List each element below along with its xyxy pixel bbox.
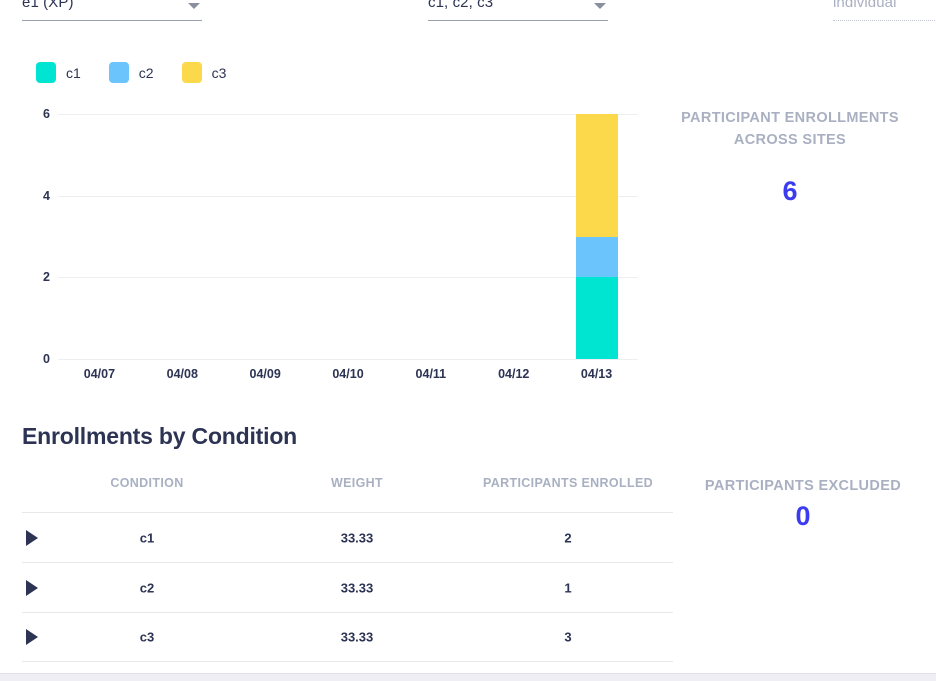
chart-legend: c1 c2 c3 <box>36 62 226 83</box>
expand-triangle-icon[interactable] <box>26 530 38 546</box>
table-body: c133.332c233.331c333.333 <box>22 512 673 662</box>
chart-y-tick-label: 2 <box>22 270 50 284</box>
chart-y-tick-label: 0 <box>22 352 50 366</box>
chart-gridline <box>58 359 638 360</box>
chart-y-tick-label: 4 <box>22 189 50 203</box>
legend-label: c2 <box>139 65 154 81</box>
filter-unit[interactable]: individual <box>833 0 936 24</box>
bottom-divider <box>0 673 936 681</box>
chart-x-axis: 04/0704/0804/0904/1004/1104/1204/13 <box>58 367 638 387</box>
bar-segment-c1[interactable] <box>576 277 618 359</box>
table-cell-enrolled: 2 <box>564 530 571 545</box>
table-column-header: CONDITION <box>110 476 183 490</box>
table-row[interactable]: c233.331 <box>22 562 673 612</box>
filter-experiment[interactable]: e1 (XP) <box>22 0 202 24</box>
legend-label: c1 <box>66 65 81 81</box>
chart-x-tick-label: 04/09 <box>250 367 281 381</box>
table-cell-weight: 33.33 <box>341 580 374 595</box>
table-cell-condition: c1 <box>140 530 154 545</box>
filter-bar: e1 (XP) c1, c2, c3 individual Last 7 Day… <box>0 0 936 24</box>
chart-x-tick-label: 04/07 <box>84 367 115 381</box>
expand-triangle-icon[interactable] <box>26 580 38 596</box>
legend-swatch-icon <box>36 62 56 83</box>
chart-gridline <box>58 196 638 197</box>
filter-underline <box>22 20 202 21</box>
filter-underline-disabled <box>833 20 936 21</box>
chevron-down-icon <box>594 3 606 9</box>
chart-x-tick-label: 04/11 <box>416 367 447 381</box>
table-column-header: PARTICIPANTS ENROLLED <box>483 476 653 490</box>
filter-conditions[interactable]: c1, c2, c3 <box>428 0 608 24</box>
dashboard-root: e1 (XP) c1, c2, c3 individual Last 7 Day… <box>0 0 936 681</box>
chart-x-tick-label: 04/12 <box>498 367 529 381</box>
bar-segment-c3[interactable] <box>576 114 618 237</box>
table-column-header: WEIGHT <box>331 476 383 490</box>
chart-plot-area: 0246 <box>58 114 638 359</box>
table-cell-condition: c3 <box>140 630 154 645</box>
legend-swatch-icon <box>109 62 129 83</box>
chevron-down-icon <box>188 3 200 9</box>
enrollments-stacked-bar-chart: 0246 04/0704/0804/0904/1004/1104/1204/13 <box>22 105 642 395</box>
filter-conditions-value: c1, c2, c3 <box>428 0 493 11</box>
table-cell-condition: c2 <box>140 580 154 595</box>
chart-x-tick-label: 04/08 <box>167 367 198 381</box>
stat-excluded-title: PARTICIPANTS EXCLUDED <box>673 475 933 497</box>
chart-gridline <box>58 277 638 278</box>
legend-label: c3 <box>212 65 227 81</box>
legend-item-c3[interactable]: c3 <box>182 62 227 83</box>
table-row[interactable]: c333.333 <box>22 612 673 662</box>
legend-item-c2[interactable]: c2 <box>109 62 154 83</box>
chart-x-tick-label: 04/10 <box>332 367 363 381</box>
filter-underline <box>428 20 608 21</box>
stat-enrollments-value: 6 <box>660 176 920 207</box>
chart-y-tick-label: 6 <box>22 107 50 121</box>
chart-bar-04-13[interactable] <box>576 114 618 359</box>
table-cell-weight: 33.33 <box>341 530 374 545</box>
stat-enrollments-title: PARTICIPANT ENROLLMENTS ACROSS SITES <box>660 107 920 151</box>
enrollments-table: CONDITIONWEIGHTPARTICIPANTS ENROLLED c13… <box>22 470 673 662</box>
filter-unit-value: individual <box>833 0 897 11</box>
table-cell-enrolled: 1 <box>564 580 571 595</box>
page-title: Enrollments by Condition <box>22 423 297 450</box>
table-header-row: CONDITIONWEIGHTPARTICIPANTS ENROLLED <box>22 470 673 512</box>
table-cell-enrolled: 3 <box>564 630 571 645</box>
chart-gridline <box>58 114 638 115</box>
legend-item-c1[interactable]: c1 <box>36 62 81 83</box>
expand-triangle-icon[interactable] <box>26 629 38 645</box>
legend-swatch-icon <box>182 62 202 83</box>
chart-x-tick-label: 04/13 <box>581 367 612 381</box>
filter-experiment-value: e1 (XP) <box>22 0 74 11</box>
stat-excluded-value: 0 <box>673 501 933 532</box>
bar-segment-c2[interactable] <box>576 237 618 278</box>
table-row[interactable]: c133.332 <box>22 512 673 562</box>
table-cell-weight: 33.33 <box>341 630 374 645</box>
